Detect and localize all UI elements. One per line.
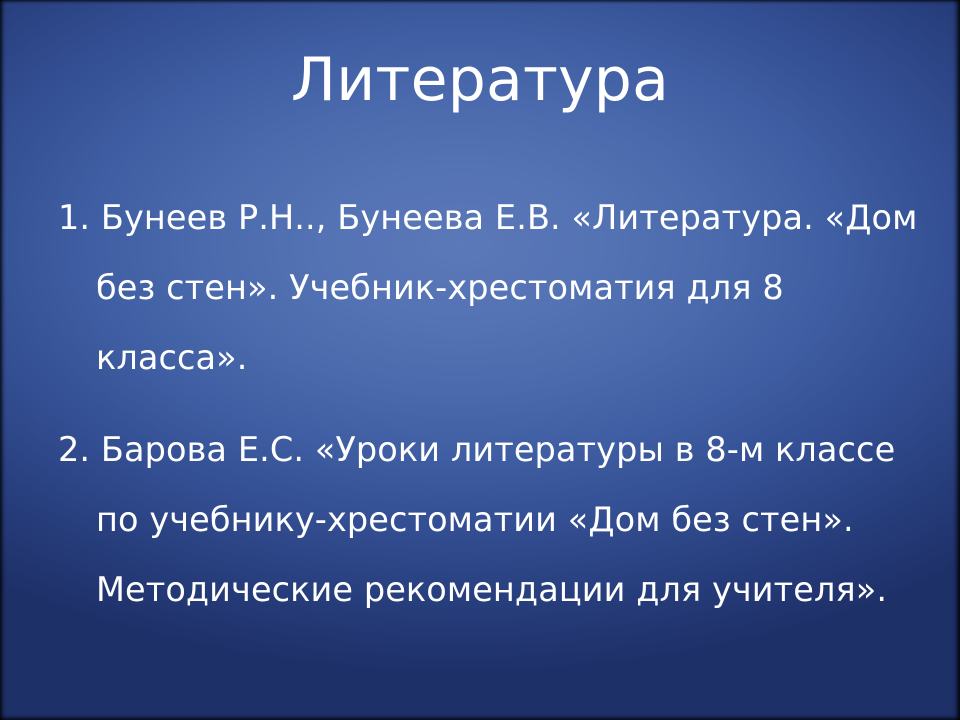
list-item: 1. Бунеев Р.Н.., Бунеева Е.В. «Литератур… xyxy=(58,183,920,393)
list-item-number: 2. xyxy=(58,430,101,469)
list-item: 2. Барова Е.С. «Уроки литературы в 8-м к… xyxy=(58,415,920,625)
slide-title-area: Литература xyxy=(0,48,960,113)
list-item-text: Барова Е.С. «Уроки литературы в 8-м клас… xyxy=(96,430,895,609)
presentation-slide: Литература 1. Бунеев Р.Н.., Бунеева Е.В.… xyxy=(0,0,960,720)
page-title: Литература xyxy=(291,48,669,113)
list-item-text: Бунеев Р.Н.., Бунеева Е.В. «Литература. … xyxy=(96,198,917,377)
list-item-number: 1. xyxy=(58,198,101,237)
reference-list: 1. Бунеев Р.Н.., Бунеева Е.В. «Литератур… xyxy=(58,183,920,625)
